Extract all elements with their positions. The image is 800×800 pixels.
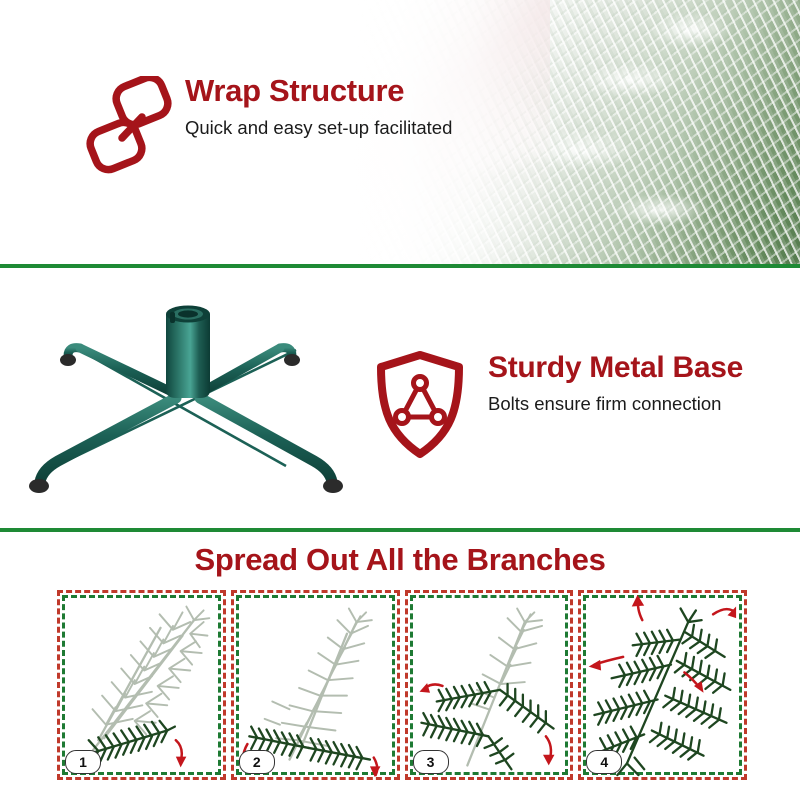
step-number-badge: 1 xyxy=(65,750,101,774)
wrap-structure-title: Wrap Structure xyxy=(185,75,485,108)
infographic-page: Wrap Structure Quick and easy set-up fac… xyxy=(0,0,800,800)
section-spread-branches: Spread Out All the Branches xyxy=(0,532,800,800)
step-number-badge: 3 xyxy=(413,750,449,774)
wrap-structure-text: Wrap Structure Quick and easy set-up fac… xyxy=(185,75,485,139)
spread-step-panels: 1 xyxy=(57,590,747,780)
section-wrap-structure: Wrap Structure Quick and easy set-up fac… xyxy=(0,0,800,264)
spread-branches-title: Spread Out All the Branches xyxy=(0,544,800,577)
step-panel: 1 xyxy=(57,590,226,780)
step-panel: 2 xyxy=(231,590,400,780)
step-number-badge: 4 xyxy=(586,750,622,774)
shield-bolt-triangle-icon xyxy=(374,350,466,460)
step-panel: 4 xyxy=(578,590,747,780)
green-metal-tree-stand-photo xyxy=(18,286,358,506)
metal-base-title: Sturdy Metal Base xyxy=(488,352,793,384)
step-number-badge: 2 xyxy=(239,750,275,774)
chain-link-icon xyxy=(86,76,172,174)
metal-base-subtitle: Bolts ensure firm connection xyxy=(488,393,793,416)
step-panel: 3 xyxy=(405,590,574,780)
metal-base-text: Sturdy Metal Base Bolts ensure firm conn… xyxy=(488,352,793,415)
wrap-structure-subtitle: Quick and easy set-up facilitated xyxy=(185,117,485,140)
section-metal-base: Sturdy Metal Base Bolts ensure firm conn… xyxy=(0,268,800,528)
